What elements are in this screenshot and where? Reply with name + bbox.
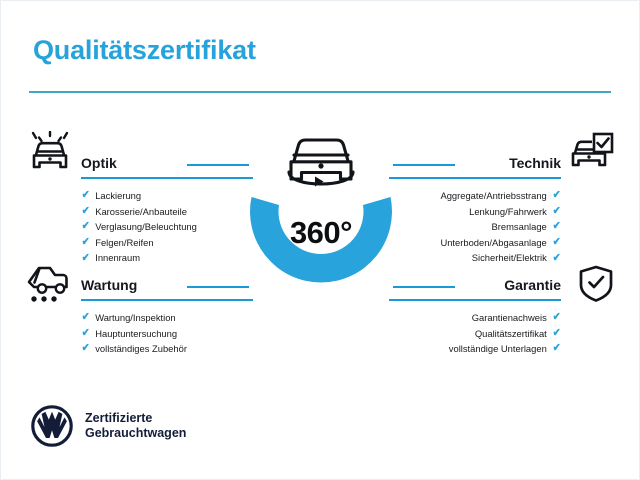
car-checkbox-icon xyxy=(569,131,615,173)
vw-certified-lockup: Zertifizierte Gebrauchtwagen xyxy=(31,405,186,447)
vw-lockup-line1: Zertifizierte xyxy=(85,411,186,427)
car-shine-icon xyxy=(27,131,73,173)
badge-degrees: 360° xyxy=(223,215,419,251)
list-item-label: Unterboden/Abgasanlage xyxy=(440,235,546,251)
list-item: ✔vollständiges Zubehör xyxy=(81,341,253,357)
check-icon: ✔ xyxy=(552,343,560,354)
car-motion-icon xyxy=(25,263,71,305)
page-title: Qualitätszertifikat xyxy=(33,35,256,66)
badge-360-gebrauchtwagen-check: Gebrauchtwagen-Check 360° xyxy=(223,119,419,319)
list-item-label: Felgen/Reifen xyxy=(95,235,153,251)
check-icon: ✔ xyxy=(82,312,90,323)
vw-logo xyxy=(31,405,73,447)
list-item-label: Garantienachweis xyxy=(472,310,547,326)
list-item-label: Karosserie/Anbauteile xyxy=(95,204,187,220)
list-item-label: Innenraum xyxy=(95,250,140,266)
check-icon: ✔ xyxy=(552,221,560,232)
vw-lockup-text: Zertifizierte Gebrauchtwagen xyxy=(85,411,186,442)
check-icon: ✔ xyxy=(552,312,560,323)
check-icon: ✔ xyxy=(552,206,560,217)
section-technik-heading: Technik xyxy=(509,155,561,171)
list-item-label: vollständiges Zubehör xyxy=(95,341,187,357)
check-icon: ✔ xyxy=(82,237,90,248)
check-icon: ✔ xyxy=(82,221,90,232)
certificate-canvas: Qualitätszertifikat Optik ✔Lackierung ✔ xyxy=(1,1,639,479)
check-icon: ✔ xyxy=(82,343,90,354)
list-item: ✔Hauptuntersuchung xyxy=(81,326,253,342)
list-item-label: Verglasung/Beleuchtung xyxy=(95,219,197,235)
list-item-label: Bremsanlage xyxy=(492,219,547,235)
section-garantie-heading: Garantie xyxy=(504,277,561,293)
check-icon: ✔ xyxy=(552,328,560,339)
check-icon: ✔ xyxy=(552,237,560,248)
list-item-label: Lenkung/Fahrwerk xyxy=(469,204,547,220)
list-item-label: Aggregate/Antriebsstrang xyxy=(440,188,546,204)
list-item-label: Lackierung xyxy=(95,188,141,204)
list-item-label: Hauptuntersuchung xyxy=(95,326,177,342)
check-icon: ✔ xyxy=(552,190,560,201)
list-item-label: vollständige Unterlagen xyxy=(449,341,547,357)
check-icon: ✔ xyxy=(82,206,90,217)
check-icon: ✔ xyxy=(82,328,90,339)
check-icon: ✔ xyxy=(82,253,90,264)
shield-check-icon xyxy=(573,263,619,305)
list-item-label: Wartung/Inspektion xyxy=(95,310,175,326)
section-wartung-heading: Wartung xyxy=(81,277,137,293)
list-item: Qualitätszertifikat✔ xyxy=(389,326,561,342)
list-item-label: Sicherheit/Elektrik xyxy=(472,250,547,266)
check-icon: ✔ xyxy=(82,190,90,201)
check-icon: ✔ xyxy=(552,253,560,264)
list-item-label: Qualitätszertifikat xyxy=(475,326,547,342)
list-item: vollständige Unterlagen✔ xyxy=(389,341,561,357)
vw-lockup-line2: Gebrauchtwagen xyxy=(85,426,186,442)
title-divider xyxy=(29,91,611,93)
section-optik-heading: Optik xyxy=(81,155,117,171)
